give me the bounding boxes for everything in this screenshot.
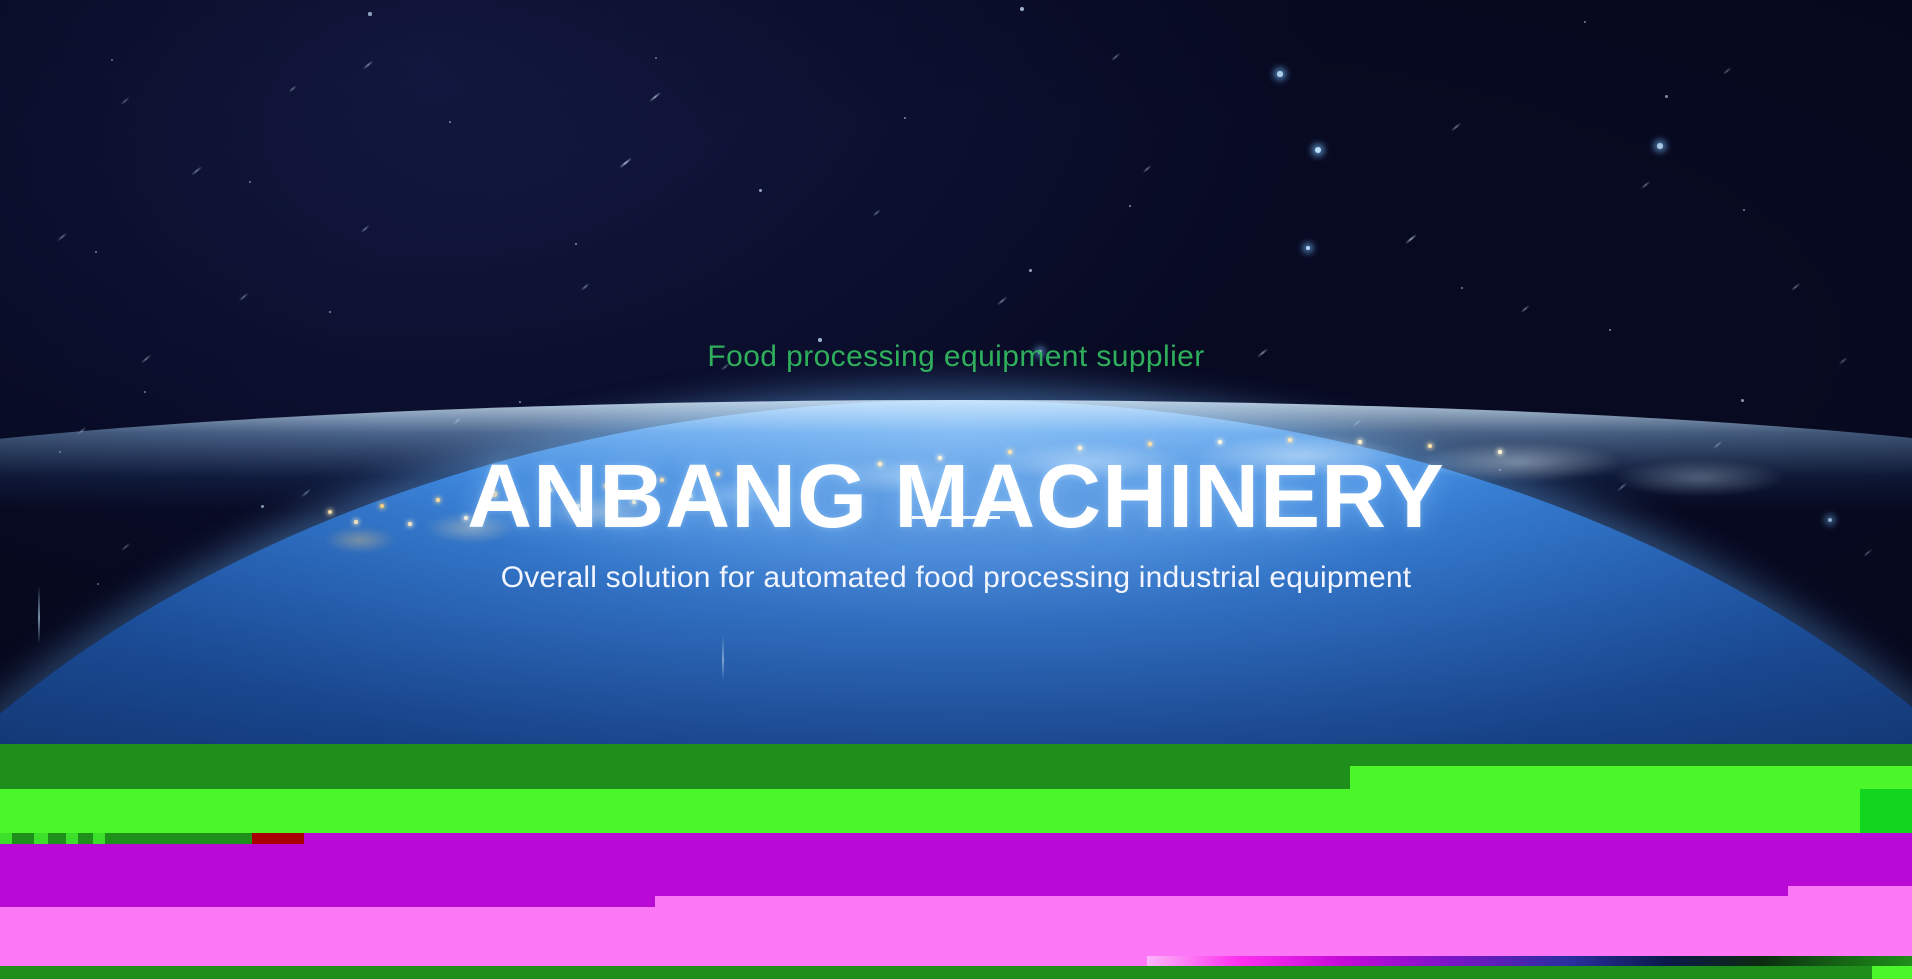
glitch-segment [0, 766, 1350, 789]
glitch-segment [78, 833, 93, 844]
star-dot [1306, 246, 1311, 251]
star-dot [368, 12, 371, 15]
star-dot [144, 391, 146, 393]
glitch-segment [48, 833, 66, 844]
star-streak [363, 60, 373, 69]
glitch-segment [0, 907, 1912, 956]
star-streak [239, 293, 249, 301]
star-streak [361, 225, 370, 232]
glitch-segment [1788, 886, 1912, 896]
star-streak [1451, 122, 1461, 131]
band-dark-green-2 [0, 766, 1912, 789]
screenshot-root: Food processing equipment supplier ANBAN… [0, 0, 1912, 979]
vertical-light-flare [722, 636, 724, 680]
glitch-segment [1147, 956, 1912, 966]
band-dark-green-3 [0, 966, 1912, 979]
band-purple-3 [0, 896, 1912, 907]
star-streak [1641, 181, 1651, 189]
star-dot [1741, 399, 1744, 402]
band-pink-1 [0, 907, 1912, 956]
glitch-segment [252, 833, 304, 844]
hero-banner: Food processing equipment supplier ANBAN… [0, 0, 1912, 760]
page-title: ANBANG MACHINERY [0, 442, 1912, 552]
star-dot [1029, 269, 1032, 272]
glitch-segment [93, 833, 105, 844]
star-streak [872, 209, 880, 216]
star-dot [249, 181, 251, 183]
star-dot [1461, 287, 1463, 289]
glitch-segment [655, 896, 1912, 907]
star-dot [759, 189, 762, 192]
band-pink-gradient-seam [0, 956, 1912, 966]
title-divider [912, 516, 1000, 519]
star-dot [655, 57, 657, 59]
glitch-segment [0, 886, 1788, 896]
star-dot [449, 121, 452, 124]
star-dot [329, 311, 332, 314]
star-streak [619, 158, 632, 168]
star-streak [997, 296, 1007, 305]
glitch-segment [0, 744, 1912, 766]
glitch-segment [0, 844, 1912, 886]
star-streak [1723, 67, 1732, 74]
glitch-segment [66, 833, 78, 844]
star-dot [1129, 205, 1132, 208]
band-bright-green-1 [0, 789, 1912, 833]
star-streak [1111, 53, 1121, 61]
star-dot [519, 401, 522, 404]
star-streak [1405, 234, 1417, 244]
corrupted-render-region [0, 744, 1912, 979]
glitch-segment [105, 833, 252, 844]
star-streak [1143, 165, 1152, 172]
star-dot [95, 251, 98, 254]
glitch-segment [0, 833, 12, 844]
hero-eyebrow: Food processing equipment supplier [0, 338, 1912, 376]
glitch-segment [1860, 789, 1912, 833]
glitch-segment [0, 789, 1860, 833]
star-dot [1277, 71, 1282, 76]
glitch-segment [34, 833, 48, 844]
star-dot [575, 243, 578, 246]
glitch-segment [1350, 766, 1912, 789]
star-dot [111, 59, 114, 62]
glitch-segment [0, 896, 655, 907]
band-purple-1 [0, 844, 1912, 886]
star-streak [649, 92, 661, 102]
glitch-segment [0, 956, 1147, 966]
hero-subtitle: Overall solution for automated food proc… [0, 558, 1912, 598]
star-streak [1791, 283, 1801, 291]
star-dot [904, 117, 907, 120]
star-dot [1315, 147, 1321, 153]
star-streak [191, 166, 202, 175]
star-dot [1609, 329, 1612, 332]
glitch-segment [0, 966, 1872, 979]
star-streak [1521, 305, 1530, 312]
glitch-segment [304, 833, 1912, 844]
star-dot [1743, 209, 1746, 212]
star-dot [1665, 95, 1668, 98]
star-streak [121, 97, 130, 104]
band-dark-green-1 [0, 744, 1912, 766]
star-dot [1657, 143, 1663, 149]
star-dot [1584, 21, 1587, 24]
star-streak [288, 85, 296, 92]
band-purple-2 [0, 886, 1912, 896]
star-streak [581, 283, 590, 290]
band-seam-green-red [0, 833, 1912, 844]
star-dot [1020, 7, 1024, 11]
glitch-segment [12, 833, 34, 844]
star-streak [57, 232, 67, 241]
glitch-segment [1872, 966, 1912, 979]
